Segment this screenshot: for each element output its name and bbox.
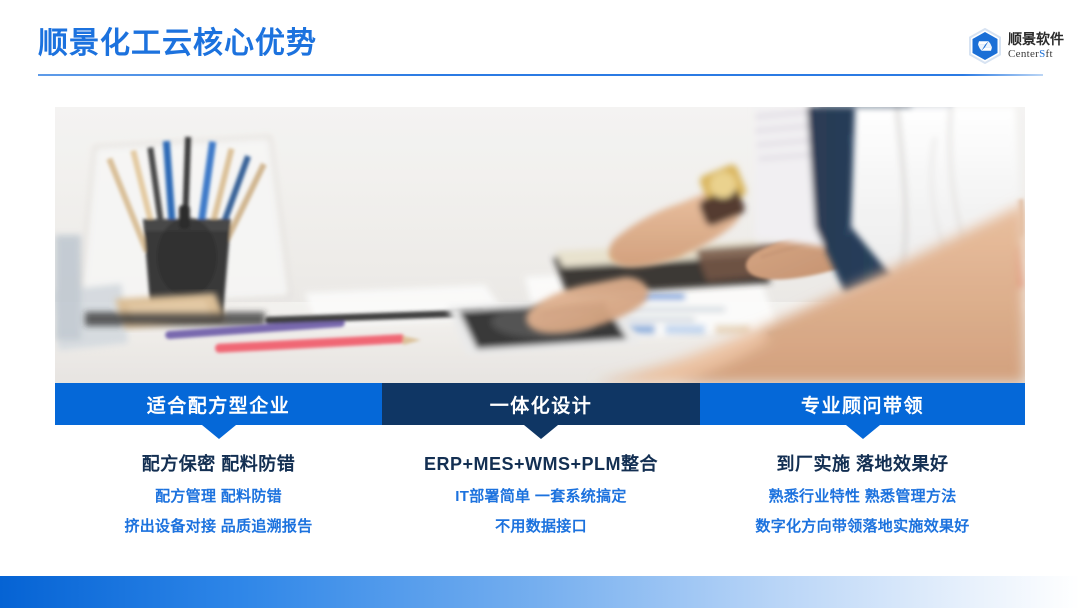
banner-notch-triangle-icon [202,425,236,439]
hexagon-s-logo-icon [968,28,1002,64]
footer-gradient-bar [0,576,1080,608]
column-integrated-design: ERP+MES+WMS+PLM整合 IT部署简单 一套系统搞定 不用数据接口 [382,452,700,538]
column-professional-consultant: 到厂实施 落地效果好 熟悉行业特性 熟悉管理方法 数字化方向带领落地实施效果好 [700,452,1025,538]
office-desk-teamwork-photo [55,107,1025,383]
column-sub-line: 挤出设备对接 品质追溯报告 [124,516,312,538]
column-sub-line: 配方管理 配料防错 [155,486,282,508]
column-sub-line: 熟悉行业特性 熟悉管理方法 [768,486,956,508]
column-headline: 到厂实施 落地效果好 [776,452,948,476]
title-underline-divider [38,74,1043,76]
banner-formula-enterprise[interactable]: 适合配方型企业 [55,383,382,425]
logo-name-en: CenterSft [1008,49,1064,60]
logo-name-cn: 顺景软件 [1008,32,1064,46]
banner-notch-triangle-icon [524,425,558,439]
banner-label: 专业顾问带领 [801,391,924,418]
logo-en-part2: ft [1046,48,1053,60]
column-formula-enterprise: 配方保密 配料防错 配方管理 配料防错 挤出设备对接 品质追溯报告 [55,452,382,538]
logo-text-block: 顺景软件 CenterSft [1008,32,1064,60]
banner-professional-consultant[interactable]: 专业顾问带领 [700,383,1025,425]
page-title: 顺景化工云核心优势 [38,26,317,62]
advantage-columns: 配方保密 配料防错 配方管理 配料防错 挤出设备对接 品质追溯报告 ERP+ME… [55,452,1025,538]
brand-logo: 顺景软件 CenterSft [968,28,1064,64]
banner-integrated-design[interactable]: 一体化设计 [382,383,700,425]
column-sub-line: 不用数据接口 [495,516,587,538]
column-headline: ERP+MES+WMS+PLM整合 [424,452,658,476]
banner-label: 适合配方型企业 [147,391,291,418]
column-sub-line: 数字化方向带领落地实施效果好 [755,516,969,538]
column-sub-line: IT部署简单 一套系统搞定 [455,486,626,508]
slide-header: 顺景化工云核心优势 顺景软件 CenterSft [0,0,1080,92]
column-headline: 配方保密 配料防错 [142,452,296,476]
banner-notch-triangle-icon [846,425,880,439]
banner-label: 一体化设计 [490,391,593,418]
logo-en-part1: Center [1008,48,1039,60]
advantage-banner-row: 适合配方型企业 一体化设计 专业顾问带领 [55,383,1025,425]
